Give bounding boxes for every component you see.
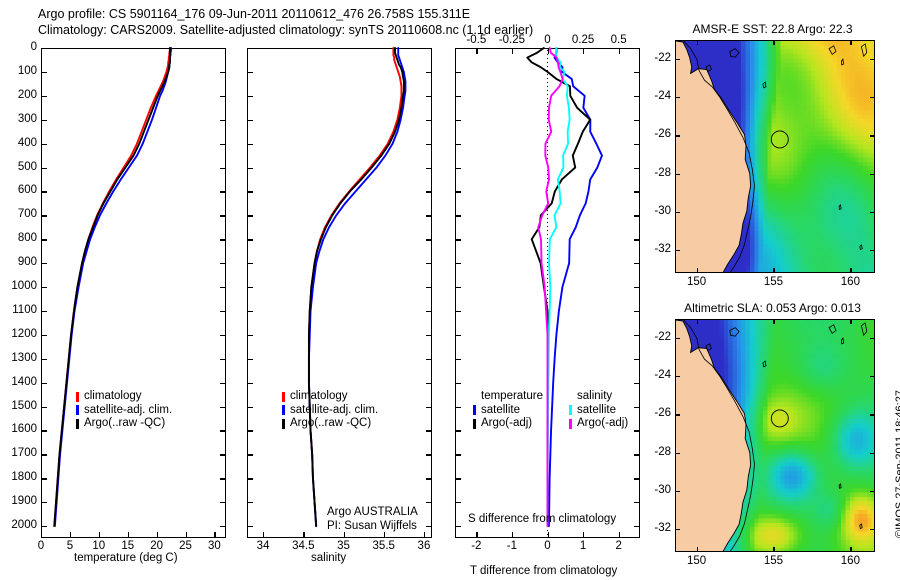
depth-tick xyxy=(634,120,640,121)
map-y-tick xyxy=(675,97,680,98)
map-y-tick-label: -28 xyxy=(641,447,671,458)
map-x-tick-label: 160 xyxy=(825,277,875,288)
depth-tick xyxy=(634,96,640,97)
argo-profile-figure: Argo profile: CS 5901164_176 09-Jun-2011… xyxy=(0,0,900,580)
x-tick xyxy=(583,532,584,538)
map-y-tick xyxy=(675,376,680,377)
map-y-tick xyxy=(870,376,875,377)
depth-tick xyxy=(455,215,461,216)
map-y-tick xyxy=(675,338,680,339)
depth-tick xyxy=(455,526,461,527)
depth-tick xyxy=(634,263,640,264)
map-y-tick xyxy=(675,174,680,175)
map-y-tick xyxy=(870,59,875,60)
depth-tick xyxy=(634,526,640,527)
depth-tick xyxy=(634,407,640,408)
depth-tick xyxy=(455,335,461,336)
map-y-tick-label: -28 xyxy=(641,168,671,179)
depth-tick xyxy=(455,239,461,240)
depth-tick xyxy=(455,48,461,49)
sst-map[interactable] xyxy=(675,40,875,273)
sla-map-canvas xyxy=(676,320,875,552)
depth-tick xyxy=(455,96,461,97)
depth-tick xyxy=(634,168,640,169)
map-y-tick xyxy=(870,491,875,492)
map-y-tick-label: -30 xyxy=(641,485,671,496)
map-y-tick-label: -22 xyxy=(641,332,671,343)
map-y-tick xyxy=(870,97,875,98)
legend-label: satellite xyxy=(481,404,520,418)
depth-tick xyxy=(634,383,640,384)
map-y-tick xyxy=(675,491,680,492)
legend-label: Argo(-adj) xyxy=(577,417,628,431)
depth-tick xyxy=(455,72,461,73)
legend-row: satellite xyxy=(473,404,543,418)
map-x-tick xyxy=(850,40,851,45)
map-y-tick xyxy=(870,174,875,175)
map-x-tick xyxy=(850,547,851,552)
depth-tick xyxy=(634,311,640,312)
map-y-tick-label: -24 xyxy=(641,370,671,381)
x-tick-label: 2 xyxy=(589,541,649,552)
map-x-tick-label: 160 xyxy=(825,556,875,567)
depth-tick xyxy=(634,287,640,288)
legend-color-swatch xyxy=(473,419,476,429)
map-x-tick xyxy=(773,547,774,552)
depth-tick xyxy=(455,502,461,503)
x-tick xyxy=(476,532,477,538)
depth-tick xyxy=(455,120,461,121)
legend-column: temperaturesatelliteArgo(-adj) xyxy=(473,390,543,431)
x-tick xyxy=(548,48,549,54)
depth-tick xyxy=(634,359,640,360)
map-x-tick xyxy=(697,547,698,552)
map-y-tick xyxy=(675,59,680,60)
map-y-tick xyxy=(675,414,680,415)
depth-tick xyxy=(455,430,461,431)
depth-tick xyxy=(455,287,461,288)
map-y-tick xyxy=(870,135,875,136)
map-y-tick xyxy=(870,414,875,415)
difference-legend: temperaturesatelliteArgo(-adj)salinitysa… xyxy=(473,390,628,431)
map-y-tick xyxy=(870,453,875,454)
depth-tick xyxy=(634,454,640,455)
legend-color-swatch xyxy=(473,405,476,415)
map-y-tick-label: -26 xyxy=(641,129,671,140)
map-x-tick xyxy=(773,319,774,324)
legend-heading: temperature xyxy=(473,390,543,404)
legend-color-swatch xyxy=(569,405,572,415)
x-tick xyxy=(548,532,549,538)
depth-tick xyxy=(455,407,461,408)
x-tick xyxy=(619,532,620,538)
map-y-tick xyxy=(675,212,680,213)
depth-tick xyxy=(455,454,461,455)
map-x-tick xyxy=(697,40,698,45)
difference-axis-label-top: S difference from climatology xyxy=(468,513,616,525)
map-y-tick-label: -24 xyxy=(641,91,671,102)
depth-tick xyxy=(634,478,640,479)
depth-tick xyxy=(455,311,461,312)
map-y-tick xyxy=(870,212,875,213)
difference-line xyxy=(527,48,590,526)
x-tick-label: 0.5 xyxy=(589,35,649,46)
map-x-tick-label: 155 xyxy=(748,556,798,567)
map-y-tick xyxy=(675,250,680,251)
depth-tick xyxy=(634,144,640,145)
map-y-tick xyxy=(675,135,680,136)
legend-label: satellite xyxy=(577,404,616,418)
x-tick xyxy=(512,532,513,538)
map-x-tick xyxy=(773,40,774,45)
legend-color-swatch xyxy=(569,419,572,429)
legend-label: Argo(-adj) xyxy=(481,417,532,431)
legend-row: satellite xyxy=(569,404,628,418)
depth-tick xyxy=(455,168,461,169)
map-y-tick xyxy=(675,453,680,454)
map-y-tick-label: -32 xyxy=(641,523,671,534)
map-x-tick xyxy=(850,319,851,324)
map-x-tick-label: 150 xyxy=(672,277,722,288)
depth-tick xyxy=(634,430,640,431)
difference-axis-label-bottom: T difference from climatology xyxy=(470,565,617,577)
depth-tick xyxy=(634,215,640,216)
depth-tick xyxy=(634,239,640,240)
map-y-tick-label: -32 xyxy=(641,244,671,255)
x-tick xyxy=(476,48,477,54)
copyright-label: ©IMOS 27-Sep-2011 18:46:27 xyxy=(894,390,900,538)
map-y-tick xyxy=(870,529,875,530)
legend-heading: salinity xyxy=(569,390,628,404)
legend-columns: temperaturesatelliteArgo(-adj)salinitysa… xyxy=(473,390,628,431)
x-tick xyxy=(583,48,584,54)
depth-tick xyxy=(634,72,640,73)
difference-line xyxy=(549,48,602,526)
depth-tick xyxy=(455,383,461,384)
map-x-tick xyxy=(697,268,698,273)
depth-tick xyxy=(455,478,461,479)
map-y-tick-label: -30 xyxy=(641,206,671,217)
map-y-tick-label: -26 xyxy=(641,408,671,419)
map-y-tick xyxy=(675,529,680,530)
map-y-tick xyxy=(870,250,875,251)
map-x-tick xyxy=(697,319,698,324)
map-x-tick-label: 155 xyxy=(748,277,798,288)
depth-tick xyxy=(634,502,640,503)
depth-tick xyxy=(455,144,461,145)
depth-tick xyxy=(634,191,640,192)
sst-map-title: AMSR-E SST: 22.8 Argo: 22.3 xyxy=(660,22,885,36)
depth-tick xyxy=(634,335,640,336)
x-tick xyxy=(512,48,513,54)
map-x-tick xyxy=(773,268,774,273)
depth-tick xyxy=(455,359,461,360)
depth-tick xyxy=(455,263,461,264)
sst-map-canvas xyxy=(676,41,875,273)
legend-row: Argo(-adj) xyxy=(473,417,543,431)
depth-tick xyxy=(455,191,461,192)
sla-map-title: Altimetric SLA: 0.053 Argo: 0.013 xyxy=(655,301,890,315)
map-y-tick xyxy=(870,338,875,339)
x-tick xyxy=(619,48,620,54)
sla-map[interactable] xyxy=(675,319,875,552)
map-x-tick-label: 150 xyxy=(672,556,722,567)
depth-tick xyxy=(634,48,640,49)
legend-row: Argo(-adj) xyxy=(569,417,628,431)
map-x-tick xyxy=(850,268,851,273)
legend-column: salinitysatelliteArgo(-adj) xyxy=(569,390,628,431)
map-y-tick-label: -22 xyxy=(641,53,671,64)
